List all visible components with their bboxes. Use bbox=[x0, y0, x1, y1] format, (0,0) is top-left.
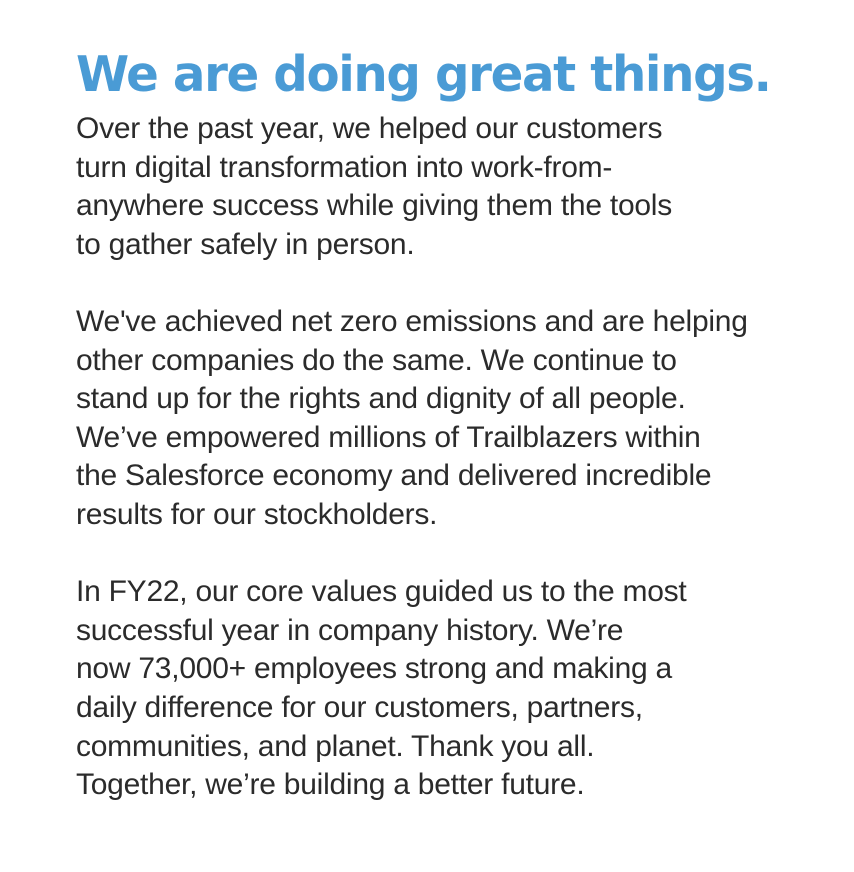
page-headline: We are doing great things. bbox=[76, 46, 803, 104]
paragraph-customers: Over the past year, we helped our custom… bbox=[76, 110, 806, 264]
paragraph-net-zero: We've achieved net zero emissions and ar… bbox=[76, 303, 806, 535]
paragraph-spacer bbox=[76, 264, 806, 303]
body-copy: Over the past year, we helped our custom… bbox=[76, 110, 806, 805]
paragraph-spacer bbox=[76, 535, 806, 574]
paragraph-fy22: In FY22, our core values guided us to th… bbox=[76, 573, 806, 805]
letter-page: We are doing great things. Over the past… bbox=[0, 0, 854, 872]
